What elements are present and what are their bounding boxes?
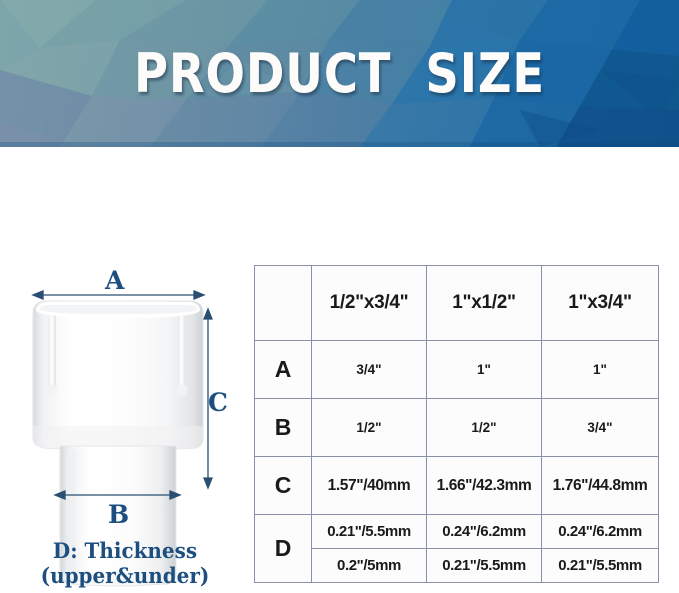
dimension-label-b: B [108, 502, 129, 527]
cell-a-1: 3/4" [312, 341, 427, 399]
table-row-a: A 3/4" 1" 1" [255, 341, 659, 399]
row-label-a: A [255, 341, 312, 399]
table-row-d-upper: D 0.21"/5.5mm 0.24"/6.2mm 0.24"/6.2mm [255, 515, 659, 549]
cell-d-under-3: 0.21"/5.5mm [542, 549, 659, 583]
row-label-b: B [255, 399, 312, 457]
dimension-label-c: C [208, 390, 228, 415]
cell-b-1: 1/2" [312, 399, 427, 457]
column-header-1: 1/2"x3/4" [312, 266, 427, 341]
thickness-caption: D: Thickness (upper&under) [6, 538, 244, 588]
column-header-2: 1"x1/2" [427, 266, 542, 341]
cell-a-2: 1" [427, 341, 542, 399]
product-size-infographic: PRODUCT SIZE [0, 0, 679, 593]
column-header-3: 1"x3/4" [542, 266, 659, 341]
cell-d-under-1: 0.2"/5mm [312, 549, 427, 583]
header-banner: PRODUCT SIZE [0, 0, 679, 147]
cell-b-2: 1/2" [427, 399, 542, 457]
table-corner-cell [255, 266, 312, 341]
cell-d-upper-3: 0.24"/6.2mm [542, 515, 659, 549]
cell-d-upper-2: 0.24"/6.2mm [427, 515, 542, 549]
size-table: 1/2"x3/4" 1"x1/2" 1"x3/4" A 3/4" 1" 1" B… [254, 265, 659, 583]
row-label-c: C [255, 457, 312, 515]
dimension-label-a: A [105, 268, 124, 293]
cell-b-3: 3/4" [542, 399, 659, 457]
cell-d-upper-1: 0.21"/5.5mm [312, 515, 427, 549]
row-label-d: D [255, 515, 312, 583]
cell-d-under-2: 0.21"/5.5mm [427, 549, 542, 583]
product-illustration: A B C D: Thickness (upper&under) [0, 150, 250, 593]
cell-c-1: 1.57"/40mm [312, 457, 427, 515]
cell-c-3: 1.76"/44.8mm [542, 457, 659, 515]
table-header-row: 1/2"x3/4" 1"x1/2" 1"x3/4" [255, 266, 659, 341]
page-title: PRODUCT SIZE [48, 44, 632, 104]
table-row-b: B 1/2" 1/2" 3/4" [255, 399, 659, 457]
table-row-c: C 1.57"/40mm 1.66"/42.3mm 1.76"/44.8mm [255, 457, 659, 515]
cell-c-2: 1.66"/42.3mm [427, 457, 542, 515]
table-row-d-under: 0.2"/5mm 0.21"/5.5mm 0.21"/5.5mm [255, 549, 659, 583]
cell-a-3: 1" [542, 341, 659, 399]
